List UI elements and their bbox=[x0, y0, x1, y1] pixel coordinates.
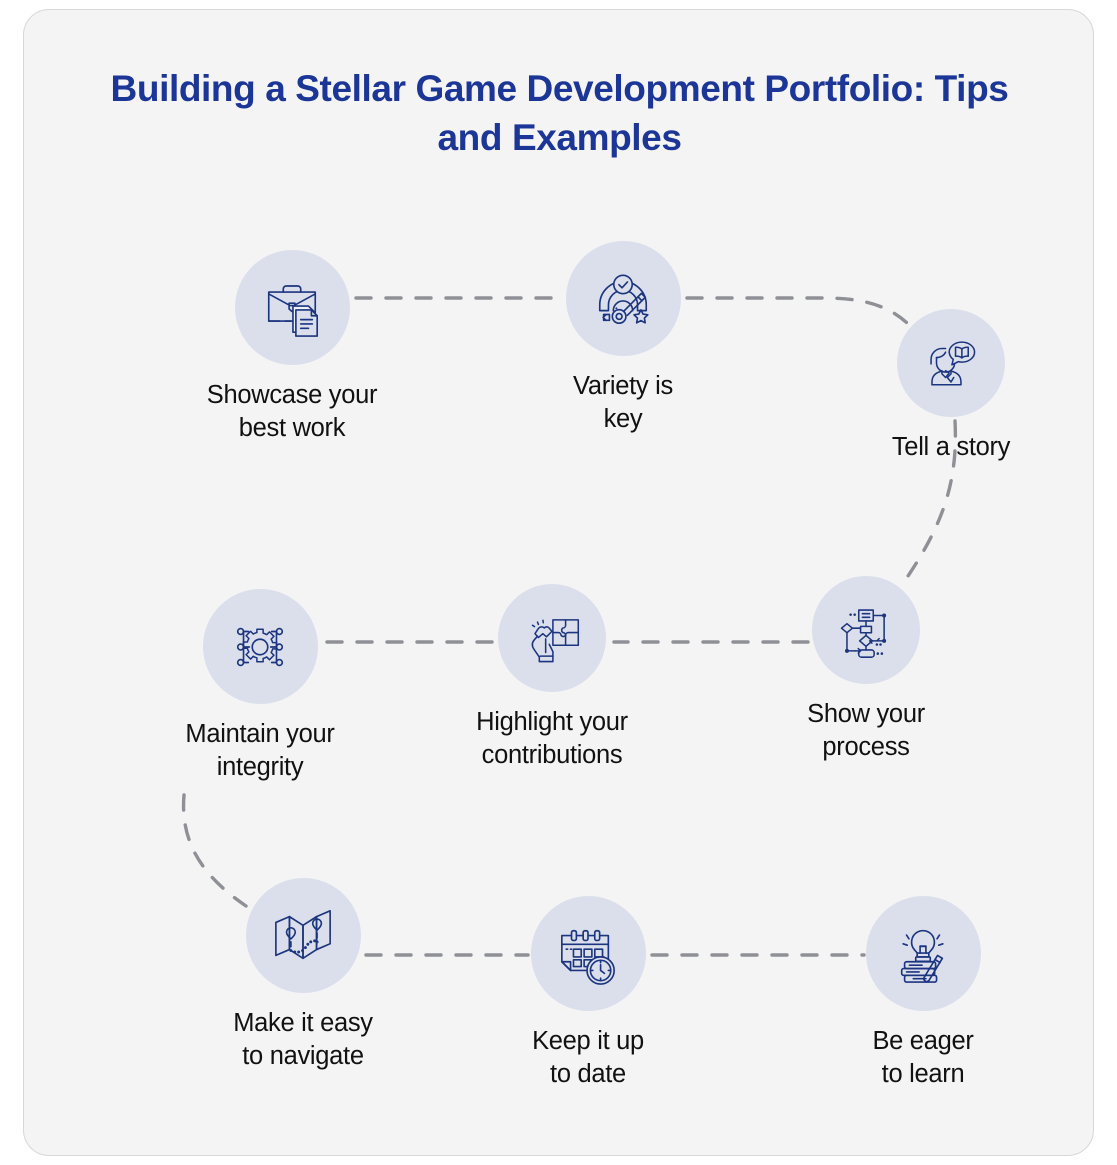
briefcase-documents-icon bbox=[261, 277, 323, 339]
gear-network-icon bbox=[229, 616, 291, 678]
node-showcase-your-best-work[interactable]: Showcase your best work bbox=[177, 250, 407, 444]
icon-circle bbox=[498, 584, 606, 692]
node-label: Variety is key bbox=[508, 370, 738, 435]
icon-circle bbox=[812, 576, 920, 684]
node-label: Highlight your contributions bbox=[437, 706, 667, 771]
node-highlight-your-contributions[interactable]: Highlight your contributions bbox=[437, 584, 667, 771]
node-show-your-process[interactable]: Show your process bbox=[751, 576, 981, 763]
node-label: Be eager to learn bbox=[808, 1025, 1038, 1090]
node-maintain-your-integrity[interactable]: Maintain your integrity bbox=[145, 589, 375, 783]
folded-map-pins-icon bbox=[272, 905, 334, 967]
node-variety-is-key[interactable]: Variety is key bbox=[508, 241, 738, 435]
node-be-eager-to-learn[interactable]: Be eager to learn bbox=[808, 896, 1038, 1090]
icon-circle bbox=[246, 878, 361, 993]
lightbulb-books-pencil-icon bbox=[892, 923, 954, 985]
icon-circle bbox=[897, 309, 1005, 417]
page-title: Building a Stellar Game Development Port… bbox=[24, 65, 1094, 163]
icon-circle bbox=[866, 896, 981, 1011]
node-keep-it-up-to-date[interactable]: Keep it up to date bbox=[473, 896, 703, 1090]
icon-circle bbox=[203, 589, 318, 704]
icon-circle bbox=[566, 241, 681, 356]
node-label: Keep it up to date bbox=[473, 1025, 703, 1090]
infographic-card: Building a Stellar Game Development Port… bbox=[23, 9, 1094, 1156]
icon-circle bbox=[235, 250, 350, 365]
hand-puzzle-piece-icon bbox=[523, 609, 581, 667]
node-label: Tell a story bbox=[836, 431, 1066, 464]
person-speech-book-icon bbox=[922, 334, 980, 392]
flowchart-icon bbox=[837, 601, 895, 659]
node-label: Maintain your integrity bbox=[145, 718, 375, 783]
calendar-clock-icon bbox=[557, 923, 619, 985]
node-tell-a-story[interactable]: Tell a story bbox=[836, 309, 1066, 464]
node-make-it-easy-to-navigate[interactable]: Make it easy to navigate bbox=[188, 878, 418, 1072]
icon-circle bbox=[531, 896, 646, 1011]
node-label: Showcase your best work bbox=[177, 379, 407, 444]
gauge-checkmark-star-icon bbox=[592, 268, 654, 330]
node-label: Show your process bbox=[751, 698, 981, 763]
node-label: Make it easy to navigate bbox=[188, 1007, 418, 1072]
